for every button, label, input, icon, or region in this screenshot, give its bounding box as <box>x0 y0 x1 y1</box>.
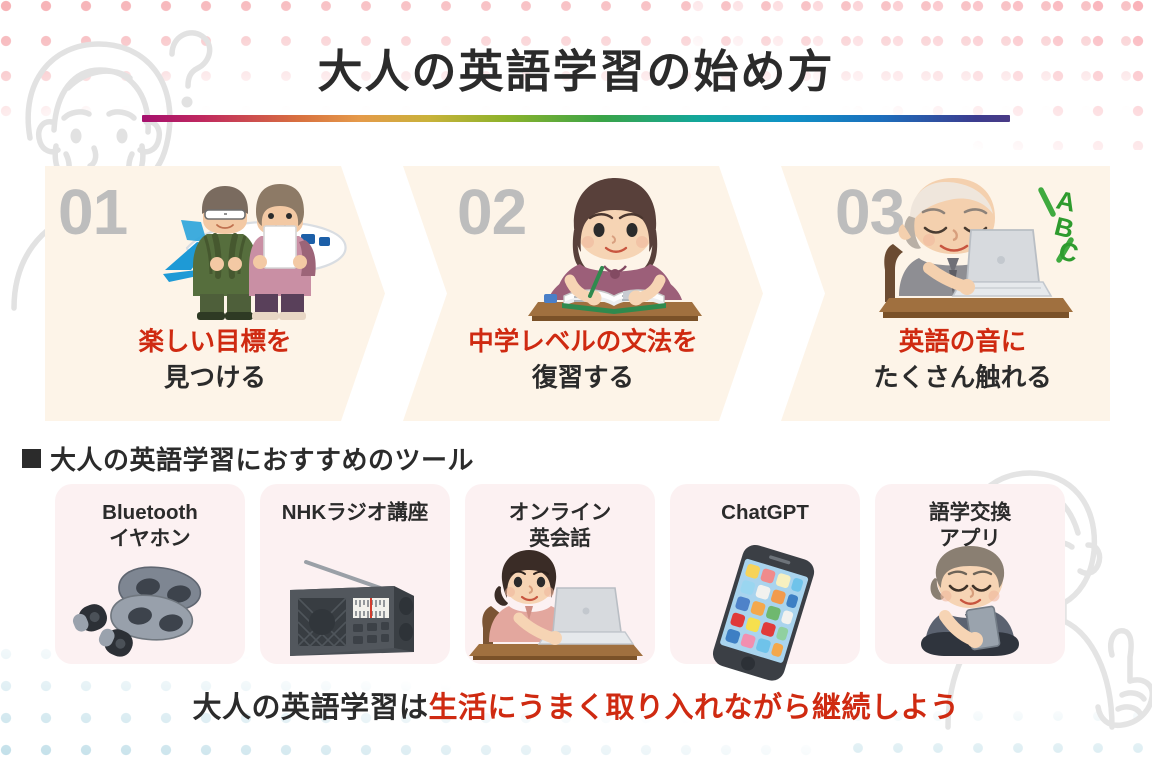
tools-row: Bluetooth イヤホン <box>55 484 1115 664</box>
step-card-02[interactable]: 02 <box>403 166 763 421</box>
tool-label-line2: イヤホン <box>109 527 190 550</box>
step-card-01[interactable]: 01 <box>45 166 385 421</box>
tools-section-heading: 大人の英語学習におすすめのツール <box>22 440 474 477</box>
step-caption-03-dark: たくさん触れる <box>873 364 1052 392</box>
senior-couple-airplane-illustration-icon <box>145 170 360 320</box>
tool-label-line1: 語学交換 <box>929 501 1011 524</box>
tools-heading-text: 大人の英語学習におすすめのツール <box>50 440 474 477</box>
tool-card-nhk-radio[interactable]: NHKラジオ講座 <box>260 484 450 664</box>
senior-woman-studying-desk-illustration-icon <box>518 170 713 320</box>
step-number-02: 02 <box>457 180 526 244</box>
tool-label-line2: 英会話 <box>529 527 591 550</box>
infographic-canvas: 大人の英語学習の始め方 01 <box>0 0 1152 768</box>
tool-label-line1: オンライン <box>509 501 612 524</box>
senior-man-laptop-abc-illustration-icon: A B C <box>873 170 1088 320</box>
step-caption-03: 英語の音に たくさん触れる <box>815 324 1110 396</box>
page-title: 大人の英語学習の始め方 <box>0 46 1152 98</box>
title-block: 大人の英語学習の始め方 <box>0 46 1152 122</box>
step-caption-02: 中学レベルの文法を 復習する <box>437 324 729 396</box>
square-bullet-icon <box>22 449 41 468</box>
step-caption-02-dark: 復習する <box>532 364 634 392</box>
steps-row: 01 <box>45 166 1110 421</box>
tool-label-line1: NHKラジオ講座 <box>282 501 429 524</box>
woman-laptop-illustration-icon <box>465 556 655 660</box>
tool-label-language-exchange-app: 語学交換 アプリ <box>881 500 1059 552</box>
tool-label-bluetooth-earphones: Bluetooth イヤホン <box>61 500 239 552</box>
tool-card-language-exchange-app[interactable]: 語学交換 アプリ <box>875 484 1065 664</box>
step-caption-02-red: 中学レベルの文法を <box>468 328 698 356</box>
conclusion-text: 大人の英語学習は生活にうまく取り入れながら継続しよう <box>0 684 1152 726</box>
conclusion-red: 生活にうまく取り入れながら継続しよう <box>429 692 960 724</box>
tool-card-chatgpt[interactable]: ChatGPT <box>670 484 860 664</box>
radio-illustration-icon <box>260 556 450 660</box>
tool-label-online-english: オンライン 英会話 <box>471 500 649 552</box>
tool-label-line1: ChatGPT <box>721 501 809 524</box>
step-caption-03-red: 英語の音に <box>899 328 1027 356</box>
smartphone-apps-illustration-icon <box>670 556 860 660</box>
tool-card-bluetooth-earphones[interactable]: Bluetooth イヤホン <box>55 484 245 664</box>
senior-man-tablet-illustration-icon <box>875 556 1065 660</box>
step-caption-01-red: 楽しい目標を <box>138 328 291 356</box>
title-gradient-rule <box>142 115 1010 122</box>
tool-label-nhk-radio: NHKラジオ講座 <box>266 500 444 526</box>
tool-label-chatgpt: ChatGPT <box>676 500 854 526</box>
step-caption-01-dark: 見つける <box>164 364 266 392</box>
step-card-03[interactable]: 03 <box>781 166 1110 421</box>
step-caption-01: 楽しい目標を 見つける <box>45 324 385 396</box>
step-number-01: 01 <box>58 180 127 244</box>
conclusion-dark: 大人の英語学習は <box>192 692 428 724</box>
tool-card-online-english[interactable]: オンライン 英会話 <box>465 484 655 664</box>
tool-label-line1: Bluetooth <box>102 501 198 524</box>
wireless-earbuds-illustration-icon <box>55 556 245 660</box>
